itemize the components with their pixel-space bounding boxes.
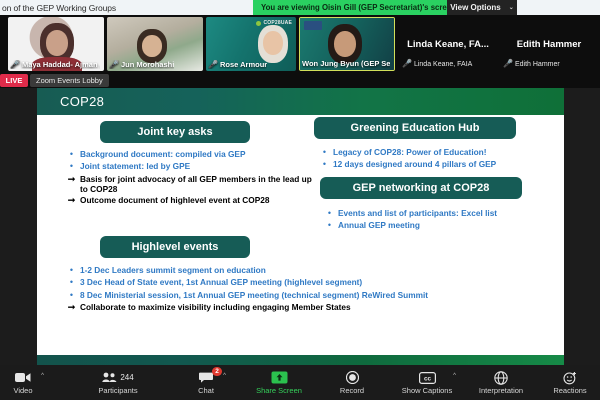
- video-tile-participant-2[interactable]: 🎤 Jun Morohashi: [107, 17, 203, 71]
- video-tile-participant-1[interactable]: 🎤 Maya Haddad- Ajman ..: [8, 17, 104, 71]
- gep-networking-list: • Events and list of participants: Excel…: [325, 208, 550, 233]
- list-item: • 1-2 Dec Leaders summit segment on educ…: [67, 265, 537, 276]
- list-item-text: Basis for joint advocacy of all GEP memb…: [80, 174, 312, 195]
- window-title: on of the GEP Working Groups: [0, 3, 116, 13]
- list-item: • 8 Dec Ministerial session, 1st Annual …: [67, 290, 537, 301]
- chat-icon: [199, 371, 213, 385]
- chevron-up-icon[interactable]: ^: [223, 373, 226, 379]
- bullet-dot-icon: •: [67, 277, 76, 288]
- bullet-dot-icon: •: [67, 265, 76, 276]
- toolbar-participants-button[interactable]: 244 Participants: [88, 365, 148, 400]
- list-item-text: Events and list of participants: Excel l…: [338, 208, 497, 218]
- list-item: ➞ Basis for joint advocacy of all GEP me…: [67, 174, 312, 195]
- zoom-events-lobby-tab[interactable]: Zoom Events Lobby: [30, 74, 109, 87]
- bullet-dot-icon: •: [67, 161, 76, 172]
- record-icon: [346, 371, 359, 385]
- joint-key-asks-heading: Joint key asks: [100, 121, 250, 143]
- video-tile-active-speaker[interactable]: Won Jung Byun (GEP Secr..: [299, 17, 395, 71]
- list-item: • 12 days designed around 4 pillars of G…: [320, 159, 545, 170]
- avatar-face: [142, 35, 162, 57]
- camera-icon: [15, 371, 31, 385]
- list-item-text: 12 days designed around 4 pillars of GEP: [333, 159, 496, 169]
- chevron-up-icon[interactable]: ^: [453, 373, 456, 379]
- participant-name-text: Jun Morohashi: [121, 60, 174, 69]
- arrow-right-icon: ➞: [67, 174, 76, 185]
- avatar-face: [263, 31, 283, 55]
- slide-footer-bar: [37, 355, 564, 365]
- bullet-dot-icon: •: [67, 290, 76, 301]
- unesco-logo: [304, 21, 322, 30]
- video-tile-participant-5[interactable]: Linda Keane, FA... 🎤 Linda Keane, FAIA: [398, 17, 498, 71]
- slide-header: COP28: [37, 88, 564, 115]
- mic-muted-icon: 🎤: [109, 61, 119, 69]
- participant-name: 🎤 Edith Hammer: [503, 60, 560, 68]
- bullet-dot-icon: •: [325, 220, 334, 231]
- shared-screen-slide: COP28 Joint key asks • Background docume…: [37, 88, 564, 365]
- list-item: • Events and list of participants: Excel…: [325, 208, 550, 219]
- list-item: • Background document: compiled via GEP: [67, 149, 312, 160]
- list-item-text: Annual GEP meeting: [338, 220, 420, 230]
- toolbar-label: Reactions: [553, 386, 586, 395]
- gep-networking-heading: GEP networking at COP28: [320, 177, 522, 199]
- chevron-up-icon[interactable]: ^: [41, 373, 44, 379]
- toolbar-chat-button[interactable]: 2 Chat ^: [184, 365, 228, 400]
- svg-text:cc: cc: [423, 375, 431, 382]
- chat-unread-badge: 2: [212, 367, 222, 376]
- list-item: • 3 Dec Head of State event, 1st Annual …: [67, 277, 537, 288]
- bullet-dot-icon: •: [325, 208, 334, 219]
- toolbar-video-button[interactable]: Video ^: [0, 365, 46, 400]
- participant-name-text: Edith Hammer: [515, 61, 560, 68]
- toolbar-label: Interpretation: [479, 386, 523, 395]
- list-item: ➞ Outcome document of highlevel event at…: [67, 195, 312, 206]
- mic-muted-icon: 🎤: [402, 60, 412, 68]
- slide-body: Joint key asks • Background document: co…: [37, 115, 564, 355]
- captions-icon: cc: [419, 371, 436, 385]
- view-options-label: View Options: [450, 3, 501, 12]
- video-tile-participant-6[interactable]: Edith Hammer 🎤 Edith Hammer: [499, 17, 599, 71]
- toolbar-record-button[interactable]: Record: [330, 365, 374, 400]
- bullet-dot-icon: •: [67, 149, 76, 160]
- meeting-toolbar: Video ^ 244 Participants 2 Chat ^ Share …: [0, 365, 600, 400]
- list-item-text: 8 Dec Ministerial session, 1st Annual GE…: [80, 290, 428, 300]
- list-item: • Joint statement: led by GPE: [67, 161, 312, 172]
- mic-muted-icon: 🎤: [208, 61, 218, 69]
- toolbar-label: Video: [13, 386, 32, 395]
- mic-muted-icon: 🎤: [10, 61, 20, 69]
- viewing-screen-banner: You are viewing Oisin Gill (GEP Secretar…: [253, 0, 464, 15]
- view-options-button[interactable]: View Options ⌄: [447, 0, 517, 15]
- mic-muted-icon: 🎤: [503, 60, 513, 68]
- list-item-text: Background document: compiled via GEP: [80, 149, 246, 159]
- list-item-text: 1-2 Dec Leaders summit segment on educat…: [80, 265, 266, 275]
- participant-name-text: Won Jung Byun (GEP Secr..: [302, 59, 390, 68]
- participant-name: 🎤 Linda Keane, FAIA: [402, 60, 472, 68]
- participant-name-text: Rose Armour: [220, 60, 267, 69]
- toolbar-reactions-button[interactable]: Reactions: [544, 365, 596, 400]
- toolbar-interpretation-button[interactable]: Interpretation: [468, 365, 534, 400]
- participant-name: 🎤 Maya Haddad- Ajman ..: [10, 60, 100, 69]
- video-tile-participant-3[interactable]: COP28UAE 🎤 Rose Armour: [206, 17, 296, 71]
- share-screen-icon: [271, 371, 288, 385]
- greening-education-hub-list: • Legacy of COP28: Power of Education! •…: [320, 147, 545, 172]
- toolbar-label: Participants: [98, 386, 137, 395]
- participant-name-text: Linda Keane, FAIA: [414, 61, 472, 68]
- highlevel-events-list: • 1-2 Dec Leaders summit segment on educ…: [67, 265, 537, 314]
- toolbar-label: Chat: [198, 386, 214, 395]
- participant-name: Won Jung Byun (GEP Secr..: [302, 59, 390, 68]
- joint-key-asks-list: • Background document: compiled via GEP …: [67, 149, 312, 207]
- list-item-text: Collaborate to maximize visibility inclu…: [80, 302, 351, 312]
- people-icon: 244: [102, 371, 133, 385]
- live-badge: LIVE: [0, 74, 28, 87]
- list-item-text: Outcome document of highlevel event at C…: [80, 195, 269, 205]
- participant-name: 🎤 Jun Morohashi: [109, 60, 174, 69]
- list-item-text: Legacy of COP28: Power of Education!: [333, 147, 487, 157]
- reactions-icon: [563, 371, 577, 385]
- participant-name: 🎤 Rose Armour: [208, 60, 267, 69]
- bullet-dot-icon: •: [320, 159, 329, 170]
- participant-display-name: Edith Hammer: [517, 39, 581, 50]
- bullet-dot-icon: •: [320, 147, 329, 158]
- video-thumbnail-strip: 🎤 Maya Haddad- Ajman .. 🎤 Jun Morohashi …: [0, 15, 600, 73]
- list-item: • Legacy of COP28: Power of Education!: [320, 147, 545, 158]
- arrow-right-icon: ➞: [67, 195, 76, 206]
- avatar-face: [46, 30, 68, 56]
- greening-education-hub-heading: Greening Education Hub: [314, 117, 516, 139]
- list-item-text: 3 Dec Head of State event, 1st Annual GE…: [80, 277, 362, 287]
- toolbar-share-screen-button[interactable]: Share Screen: [250, 365, 308, 400]
- toolbar-label: Show Captions: [402, 386, 452, 395]
- zoom-meeting-window: on of the GEP Working Groups You are vie…: [0, 0, 600, 400]
- avatar-face: [334, 31, 356, 57]
- globe-icon: [494, 371, 508, 385]
- chevron-down-icon: ⌄: [509, 4, 514, 11]
- list-item: ➞ Collaborate to maximize visibility inc…: [67, 302, 537, 313]
- arrow-right-icon: ➞: [67, 302, 76, 313]
- slide-title: COP28: [37, 94, 104, 109]
- list-item-text: Joint statement: led by GPE: [80, 161, 190, 171]
- toolbar-label: Record: [340, 386, 364, 395]
- list-item: • Annual GEP meeting: [325, 220, 550, 231]
- participant-name-text: Maya Haddad- Ajman ..: [22, 60, 100, 69]
- toolbar-label: Share Screen: [256, 386, 302, 395]
- live-status-row: LIVE Zoom Events Lobby: [0, 73, 600, 88]
- toolbar-show-captions-button[interactable]: cc Show Captions ^: [396, 365, 458, 400]
- participant-count: 244: [120, 373, 133, 382]
- topbar-filler: [517, 0, 600, 15]
- participant-display-name: Linda Keane, FA...: [407, 39, 489, 50]
- highlevel-events-heading: Highlevel events: [100, 236, 250, 258]
